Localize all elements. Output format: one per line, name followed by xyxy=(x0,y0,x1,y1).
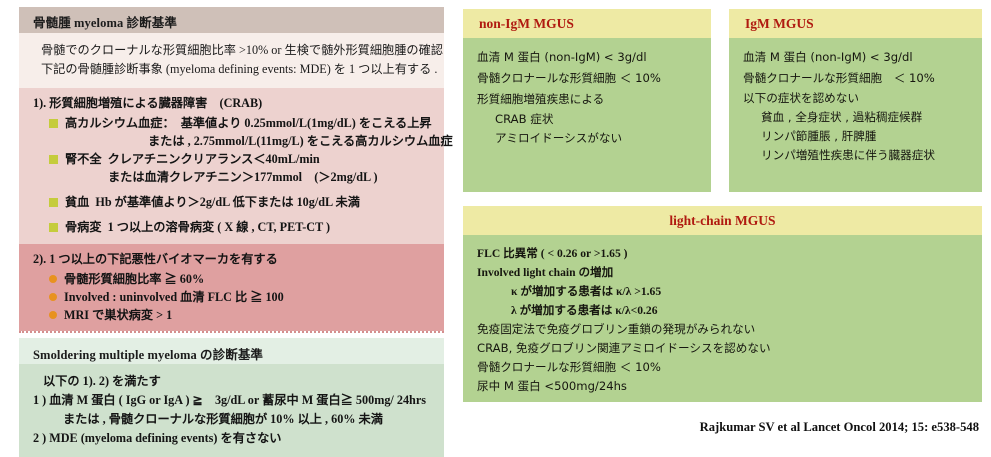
biomarker-item-text: 骨髄形質細胞比率 ≧ 60% xyxy=(64,270,204,288)
criteria-line: 形質細胞増殖疾患による xyxy=(477,89,701,110)
smm-panel-title: Smoldering multiple myeloma の診断基準 xyxy=(19,338,444,364)
criteria-line: CRAB, 免疫グロブリン関連アミロイドーシスを認めない xyxy=(477,339,972,358)
crab-item-text: 1 つ以上の溶骨病変 ( X 線 , CT, PET-CT ) xyxy=(108,218,331,236)
myeloma-criteria-panel: 骨髄腫 myeloma 診断基準 骨髄でのクローナルな形質細胞比率 >10% o… xyxy=(19,7,444,331)
criteria-line: λ が増加する患者は κ/λ<0.26 xyxy=(477,301,972,320)
crab-item-hypercalcemia: 高カルシウム血症： 基準値より 0.25mmol/L(1mg/dL) をこえる上… xyxy=(49,114,440,132)
spacer xyxy=(33,186,440,193)
crab-item-text: Hb が基準値より＞2g/dL 低下または 10g/dL 未満 xyxy=(95,193,360,211)
spacer xyxy=(33,211,440,218)
biomarker-section: 2). 1 つ以上の下記悪性バイオマーカを有する 骨髄形質細胞比率 ≧ 60% … xyxy=(19,244,444,331)
biomarker-item-mri: MRI で巣状病変 > 1 xyxy=(49,306,440,324)
criteria-line: Involved light chain の増加 xyxy=(477,263,972,282)
crab-item-label: 腎不全 xyxy=(65,150,102,168)
light-chain-mgus-body: FLC 比異常 ( < 0.26 or >1.65 ) Involved lig… xyxy=(463,235,982,404)
square-bullet-icon xyxy=(49,155,58,164)
criteria-line: FLC 比異常 ( < 0.26 or >1.65 ) xyxy=(477,244,972,263)
circle-bullet-icon xyxy=(49,275,57,283)
crab-item-renal: 腎不全 クレアチニンクリアランス＜40mL/min xyxy=(49,150,440,168)
criteria-line: 骨髄クロナールな形質細胞 ＜ 10% xyxy=(477,358,972,377)
biomarker-item-flc: Involved : uninvolved 血清 FLC 比 ≧ 100 xyxy=(49,288,440,306)
non-igm-mgus-body: 血清 M 蛋白 (non-IgM) < 3g/dl 骨髄クロナールな形質細胞 ＜… xyxy=(463,38,711,156)
crab-item-hypercalcemia-sub: または , 2.75mmol/L(11mg/L) をこえる高カルシウム血症 xyxy=(148,132,440,150)
myeloma-panel-title: 骨髄腫 myeloma 診断基準 xyxy=(19,7,444,33)
crab-item-bone: 骨病変 1 つ以上の溶骨病変 ( X 線 , CT, PET-CT ) xyxy=(49,218,440,236)
crab-item-label: 骨病変 xyxy=(65,218,102,236)
left-column: 骨髄腫 myeloma 診断基準 骨髄でのクローナルな形質細胞比率 >10% o… xyxy=(19,7,444,451)
square-bullet-icon xyxy=(49,119,58,128)
smm-line-intro: 以下の 1). 2) を満たす xyxy=(33,372,440,391)
crab-item-anemia: 貧血 Hb が基準値より＞2g/dL 低下または 10g/dL 未満 xyxy=(49,193,440,211)
crab-item-label: 貧血 xyxy=(65,193,89,211)
myeloma-intro-line-2: 下記の骨髄腫診断事象 (myeloma defining events: MDE… xyxy=(41,60,438,79)
circle-bullet-icon xyxy=(49,311,57,319)
criteria-line: 以下の症状を認めない xyxy=(743,89,972,108)
citation-text: Rajkumar SV et al Lancet Oncol 2014; 15:… xyxy=(700,420,979,435)
crab-item-text: クレアチニンクリアランス＜40mL/min xyxy=(108,150,320,168)
biomarker-item-plasma-cell: 骨髄形質細胞比率 ≧ 60% xyxy=(49,270,440,288)
criteria-line: 尿中 M 蛋白 <500mg/24hs xyxy=(477,377,972,396)
myeloma-intro-block: 骨髄でのクローナルな形質細胞比率 >10% or 生検で髄外形質細胞腫の確認 下… xyxy=(19,33,444,88)
crab-item-label: 高カルシウム血症： xyxy=(65,114,175,132)
criteria-line: リンパ増殖性疾患に伴う臓器症状 xyxy=(743,146,972,165)
crab-item-renal-sub: または血清クレアチニン＞177mmol (＞2mg/dL ) xyxy=(108,168,440,186)
criteria-line: κ が増加する患者は κ/λ >1.65 xyxy=(477,282,972,301)
smm-line-1-sub: または , 骨髄クローナルな形質細胞が 10% 以上 , 60% 未満 xyxy=(33,410,440,429)
igm-mgus-card: IgM MGUS 血清 M 蛋白 (non-IgM) < 3g/dl 骨髄クロナ… xyxy=(728,8,983,193)
igm-mgus-title: IgM MGUS xyxy=(729,9,982,38)
criteria-line: 骨髄クロナールな形質細胞 ＜ 10% xyxy=(477,68,701,89)
smm-line-1: 1 ) 血清 M 蛋白 ( IgG or IgA ) ≧ 3g/dL or 蓄尿… xyxy=(33,391,440,410)
criteria-line: 免疫固定法で免疫グロブリン重鎖の発現がみられない xyxy=(477,320,972,339)
non-igm-mgus-card: non-IgM MGUS 血清 M 蛋白 (non-IgM) < 3g/dl 骨… xyxy=(462,8,712,193)
myeloma-intro-line-1: 骨髄でのクローナルな形質細胞比率 >10% or 生検で髄外形質細胞腫の確認 xyxy=(41,41,438,60)
criteria-line: 血清 M 蛋白 (non-IgM) < 3g/dl xyxy=(477,47,701,68)
biomarker-section-title: 2). 1 つ以上の下記悪性バイオマーカを有する xyxy=(33,250,440,268)
smm-body: 以下の 1). 2) を満たす 1 ) 血清 M 蛋白 ( IgG or IgA… xyxy=(19,364,444,457)
biomarker-item-text: Involved : uninvolved 血清 FLC 比 ≧ 100 xyxy=(64,288,284,306)
biomarker-item-text: MRI で巣状病変 > 1 xyxy=(64,306,172,324)
criteria-line: アミロイドーシスがない xyxy=(477,129,701,148)
circle-bullet-icon xyxy=(49,293,57,301)
crab-section-title: 1). 形質細胞増殖による臓器障害 (CRAB) xyxy=(33,94,440,112)
light-chain-mgus-card: light-chain MGUS FLC 比異常 ( < 0.26 or >1.… xyxy=(462,205,983,403)
crab-section: 1). 形質細胞増殖による臓器障害 (CRAB) 高カルシウム血症： 基準値より… xyxy=(19,88,444,244)
smm-line-2: 2 ) MDE (myeloma defining events) を有さない xyxy=(33,429,440,448)
smoldering-myeloma-panel: Smoldering multiple myeloma の診断基準 以下の 1)… xyxy=(19,338,444,457)
criteria-line: CRAB 症状 xyxy=(477,110,701,129)
crab-item-text: 基準値より 0.25mmol/L(1mg/dL) をこえる上昇 xyxy=(181,114,432,132)
square-bullet-icon xyxy=(49,223,58,232)
igm-mgus-body: 血清 M 蛋白 (non-IgM) < 3g/dl 骨髄クロナールな形質細胞 ＜… xyxy=(729,38,982,173)
slide-root: 骨髄腫 myeloma 診断基準 骨髄でのクローナルな形質細胞比率 >10% o… xyxy=(0,0,991,457)
criteria-line: 血清 M 蛋白 (non-IgM) < 3g/dl xyxy=(743,47,972,68)
square-bullet-icon xyxy=(49,198,58,207)
section-divider xyxy=(19,331,444,335)
criteria-line: リンパ節腫脹 , 肝脾腫 xyxy=(743,127,972,146)
non-igm-mgus-title: non-IgM MGUS xyxy=(463,9,711,38)
criteria-line: 骨髄クロナールな形質細胞 ＜ 10% xyxy=(743,68,972,89)
light-chain-mgus-title: light-chain MGUS xyxy=(463,206,982,235)
criteria-line: 貧血 , 全身症状 , 過粘稠症候群 xyxy=(743,108,972,127)
